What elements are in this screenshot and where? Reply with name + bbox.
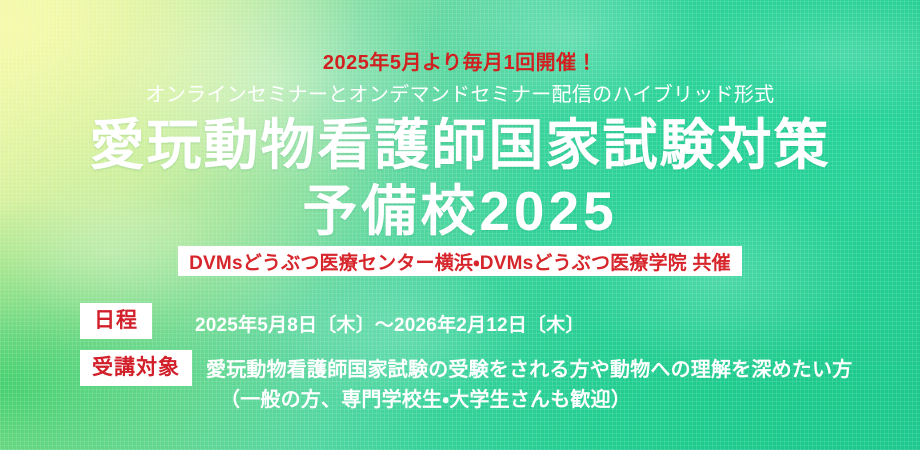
promo-banner: 2025年5月より毎月1回開催！ オンラインセミナーとオンデマンドセミナー配信の… — [0, 0, 920, 450]
banner-content: 2025年5月より毎月1回開催！ オンラインセミナーとオンデマンドセミナー配信の… — [0, 0, 920, 450]
schedule-value: 2025年5月8日〔木〕〜2026年2月12日〔木〕 — [195, 303, 585, 337]
schedule-row: 日程 2025年5月8日〔木〕〜2026年2月12日〔木〕 — [80, 303, 880, 339]
main-title-line-2: 予備校2025 — [0, 178, 920, 244]
main-title-line-1: 愛玩動物看護師国家試験対策 — [0, 112, 920, 178]
cohost-band: DVMsどうぶつ医療センター横浜・DVMsどうぶつ医療学院 共催 — [178, 246, 742, 276]
audience-value-line-1: 愛玩動物看護師国家試験の受験をされる方や動物への理解を深めたい方 — [206, 359, 852, 381]
format-description: オンラインセミナーとオンデマンドセミナー配信のハイブリッド形式 — [0, 78, 920, 107]
audience-row: 受講対象 愛玩動物看護師国家試験の受験をされる方や動物への理解を深めたい方 （一… — [80, 350, 880, 415]
kicker-headline: 2025年5月より毎月1回開催！ — [0, 46, 920, 75]
cohost-label: DVMsどうぶつ医療センター横浜・DVMsどうぶつ医療学院 共催 — [189, 248, 731, 275]
info-rows: 日程 2025年5月8日〔木〕〜2026年2月12日〔木〕 受講対象 愛玩動物看… — [80, 303, 880, 415]
schedule-badge: 日程 — [80, 303, 152, 339]
audience-value-line-2: （一般の方、専門学校生・大学生さんも歓迎） — [206, 385, 852, 415]
main-title: 愛玩動物看護師国家試験対策 予備校2025 — [0, 112, 920, 244]
audience-badge: 受講対象 — [80, 350, 192, 386]
audience-value: 愛玩動物看護師国家試験の受験をされる方や動物への理解を深めたい方 （一般の方、専… — [206, 350, 852, 415]
